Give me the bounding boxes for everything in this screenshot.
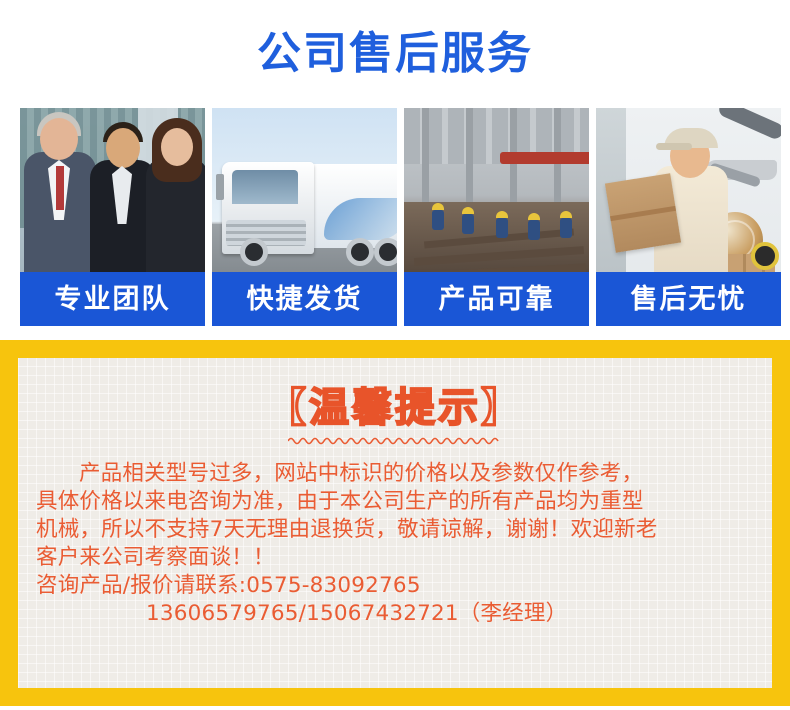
- page-root: 公司售后服务 专业团队: [0, 0, 790, 710]
- feature-card-row: 专业团队 快捷发货: [0, 108, 790, 326]
- feature-card-quality[interactable]: 产品可靠: [404, 108, 589, 326]
- feature-card-caption-bar: 专业团队: [20, 272, 205, 326]
- notice-phone-line: 13606579765/15067432721（李经理）: [36, 600, 754, 628]
- notice-contact-line: 咨询产品/报价请联系:0575-83092765: [36, 572, 754, 600]
- feature-card-aftersales[interactable]: 售后无忧: [596, 108, 781, 326]
- notice-box: 【温馨提示】 产品相关型号过多，网站中标识的价格以及参数仅作参考， 具体价格以来…: [0, 340, 790, 706]
- notice-inner: 【温馨提示】 产品相关型号过多，网站中标识的价格以及参数仅作参考， 具体价格以来…: [18, 358, 772, 688]
- notice-title: 【温馨提示】: [36, 386, 754, 430]
- feature-card-caption: 快捷发货: [247, 286, 363, 313]
- feature-card-caption: 产品可靠: [439, 286, 555, 313]
- feature-card-caption: 专业团队: [55, 286, 171, 313]
- page-title: 公司售后服务: [257, 32, 533, 76]
- notice-line-4: 客户来公司考察面谈！！: [36, 544, 754, 572]
- notice-line-2: 具体价格以来电咨询为准，由于本公司生产的所有产品均为重型: [36, 488, 754, 516]
- page-header: 公司售后服务: [0, 0, 790, 108]
- feature-card-team[interactable]: 专业团队: [20, 108, 205, 326]
- feature-card-caption-bar: 产品可靠: [404, 272, 589, 326]
- feature-card-caption-bar: 快捷发货: [212, 272, 397, 326]
- notice-body: 产品相关型号过多，网站中标识的价格以及参数仅作参考， 具体价格以来电咨询为准，由…: [36, 460, 754, 628]
- notice-line-3: 机械，所以不支持7天无理由退换货，敬请谅解，谢谢！欢迎新老: [36, 516, 754, 544]
- feature-card-shipping[interactable]: 快捷发货: [212, 108, 397, 326]
- notice-line-1: 产品相关型号过多，网站中标识的价格以及参数仅作参考，: [36, 460, 754, 488]
- notice-section: 【温馨提示】 产品相关型号过多，网站中标识的价格以及参数仅作参考， 具体价格以来…: [0, 326, 790, 706]
- feature-card-caption: 售后无忧: [631, 286, 747, 313]
- feature-card-caption-bar: 售后无忧: [596, 272, 781, 326]
- wavy-underline-icon: [288, 434, 503, 446]
